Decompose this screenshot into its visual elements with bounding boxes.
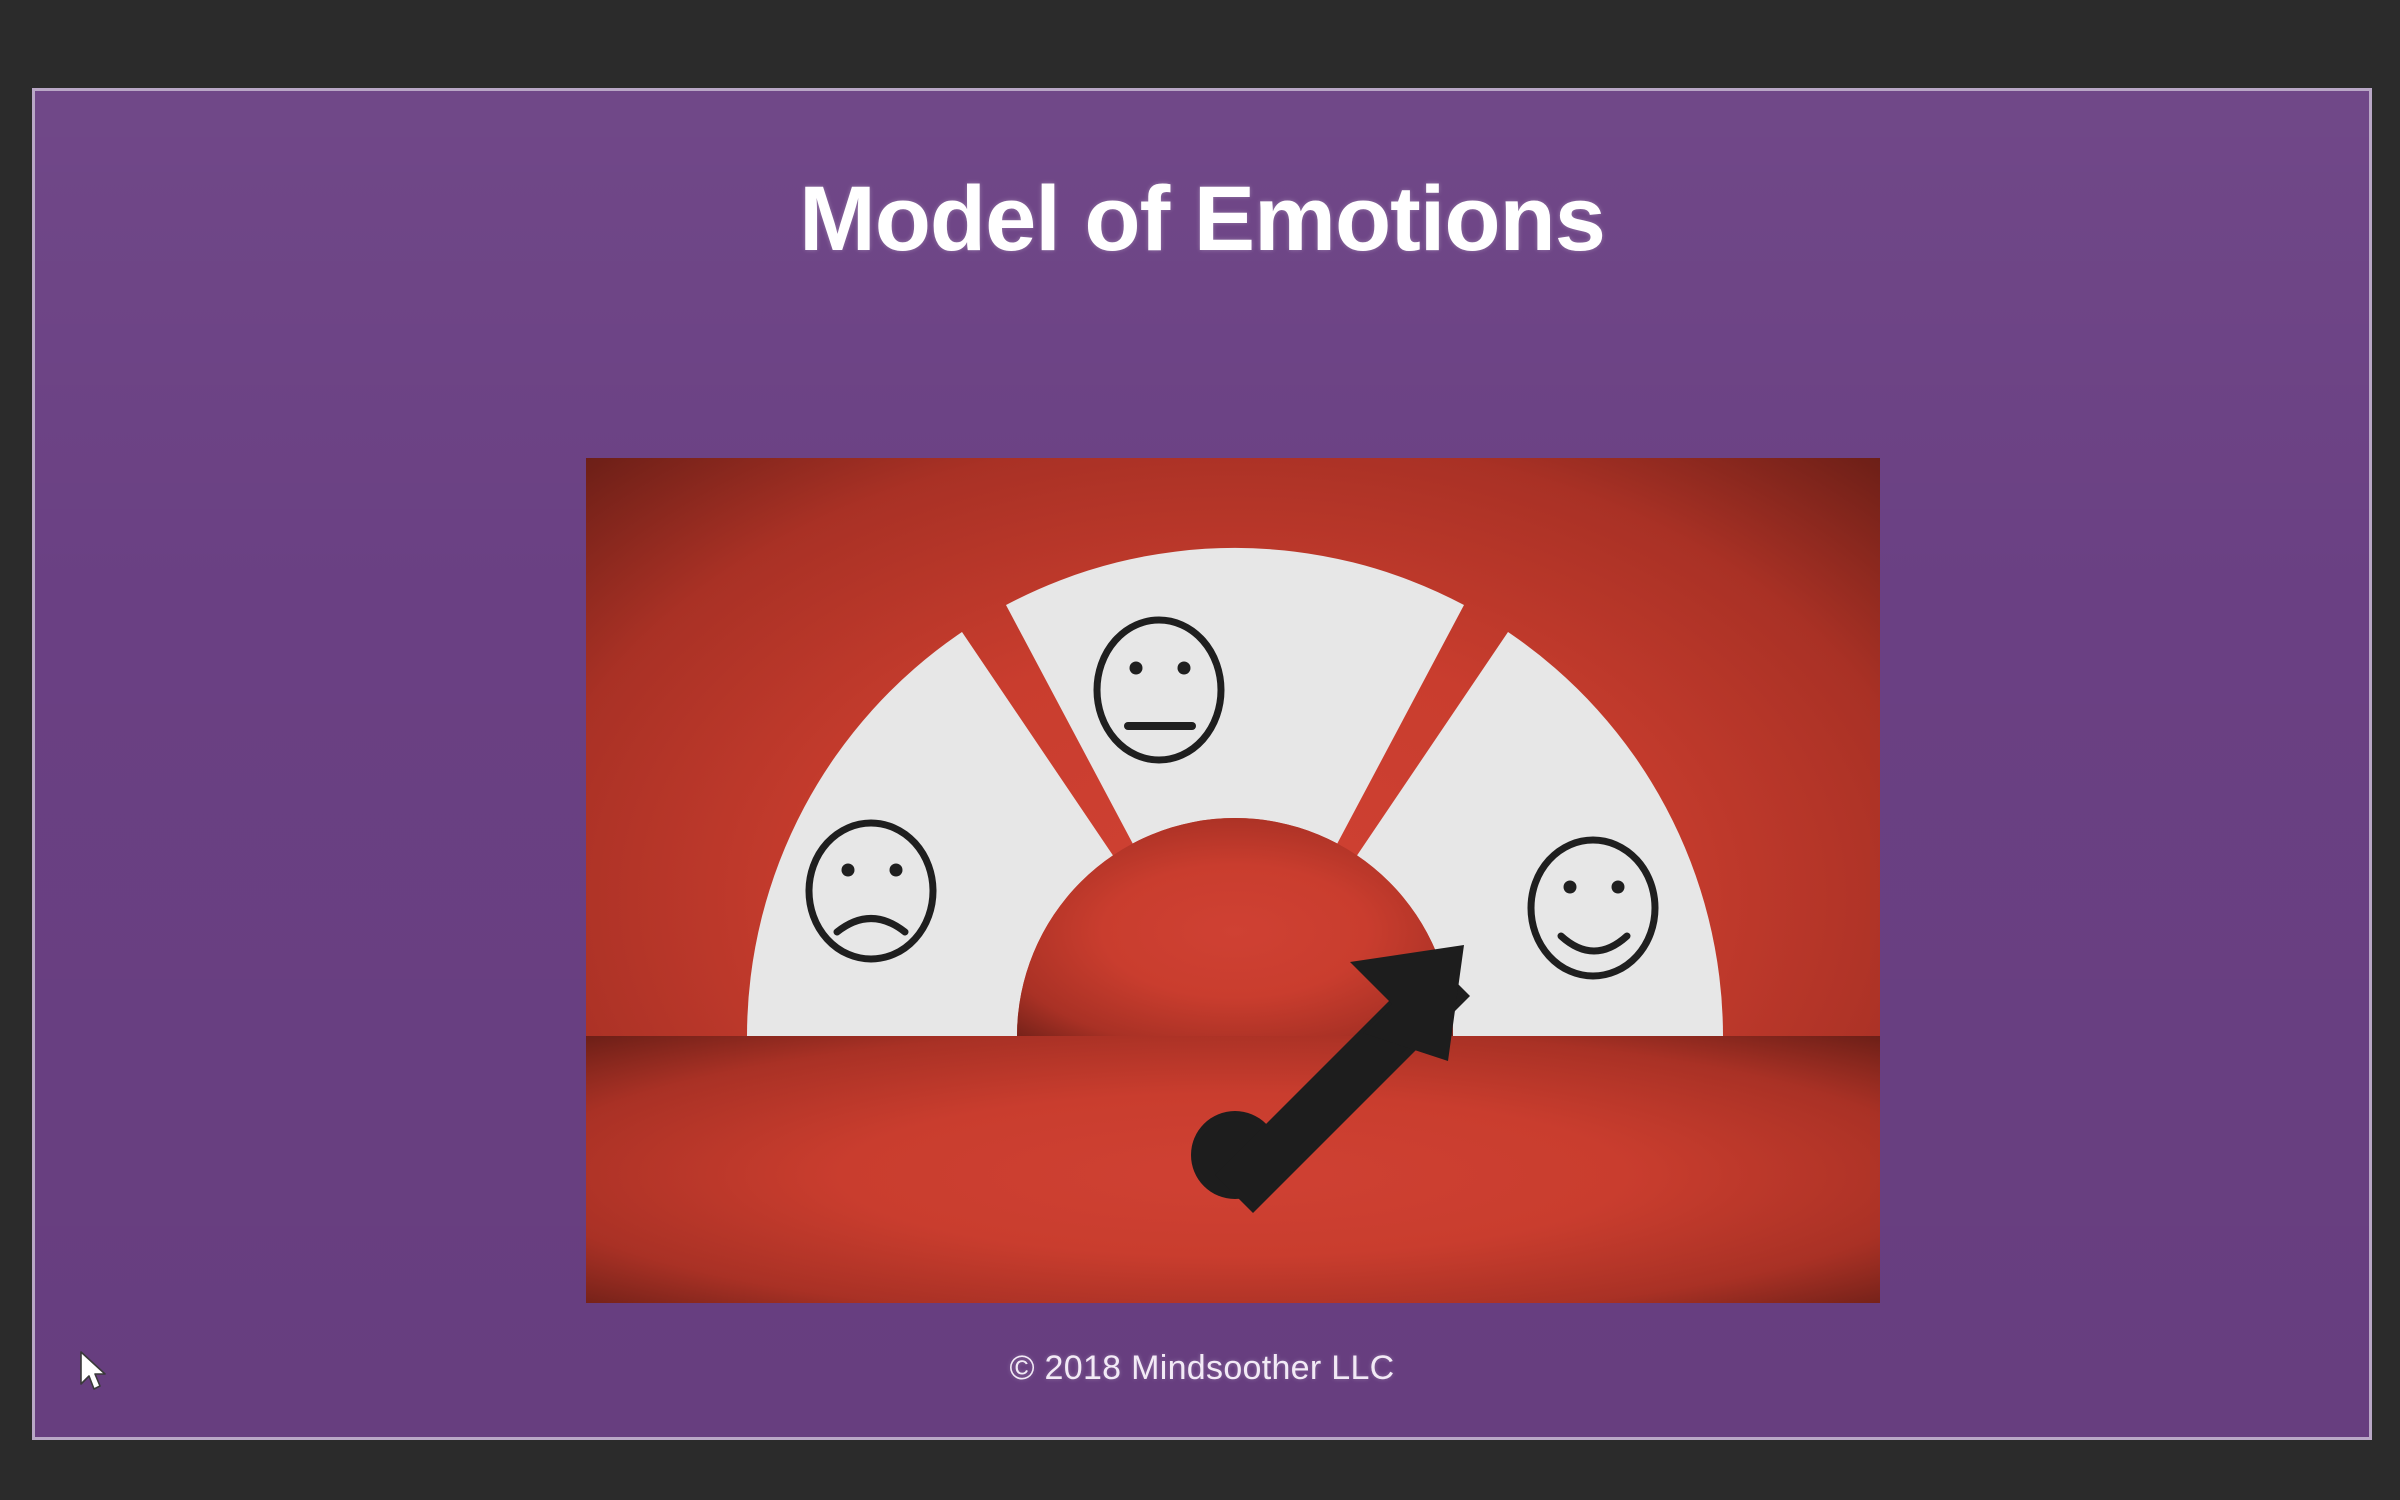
presentation-window: Model of Emotions (0, 0, 2400, 1500)
page-title: Model of Emotions (35, 173, 2369, 265)
slide-canvas[interactable]: Model of Emotions (32, 88, 2372, 1440)
emotion-gauge-graphic (586, 458, 1880, 1303)
copyright-footer: © 2018 Mindsoother LLC (35, 1349, 2369, 1388)
emotion-gauge-image (586, 458, 1880, 1303)
